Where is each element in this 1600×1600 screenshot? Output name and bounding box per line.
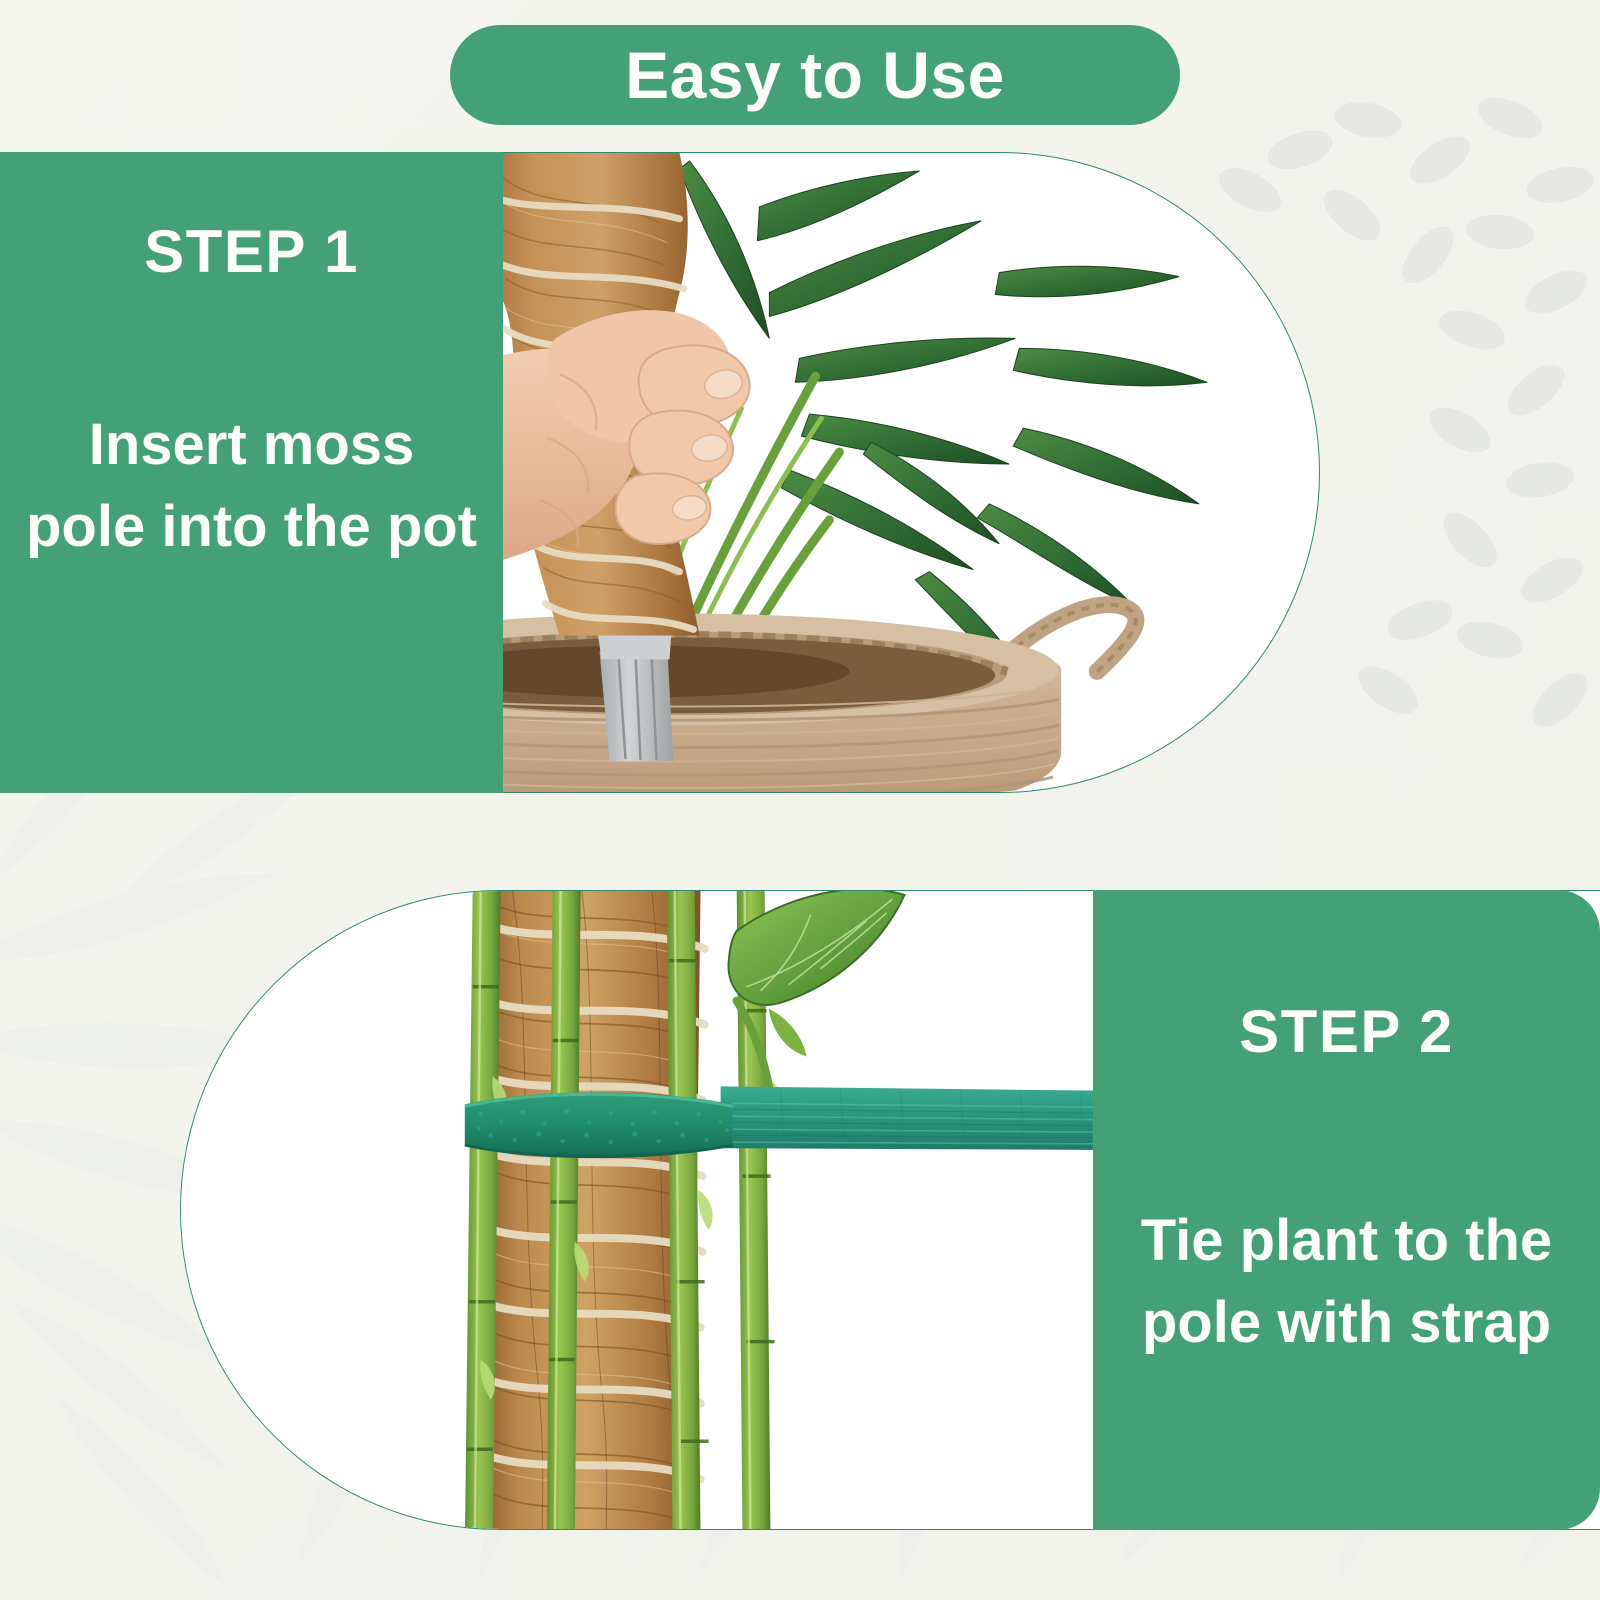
step-2-label: STEP 2 [1239, 1002, 1454, 1062]
header-badge: Easy to Use [450, 25, 1180, 125]
page-title: Easy to Use [625, 42, 1005, 108]
step-2-panel: STEP 2 Tie plant to the pole with strap [180, 890, 1600, 1530]
step-1-description: Insert moss pole into the pot [26, 404, 477, 569]
step-1-label: STEP 1 [144, 222, 359, 282]
step-2-copy-block: STEP 2 Tie plant to the pole with strap [1093, 890, 1600, 1530]
step-1-copy-block: STEP 1 Insert moss pole into the pot [0, 152, 503, 793]
step-1-panel: STEP 1 Insert moss pole into the pot [0, 152, 1320, 793]
step-2-description: Tie plant to the pole with strap [1141, 1200, 1552, 1365]
